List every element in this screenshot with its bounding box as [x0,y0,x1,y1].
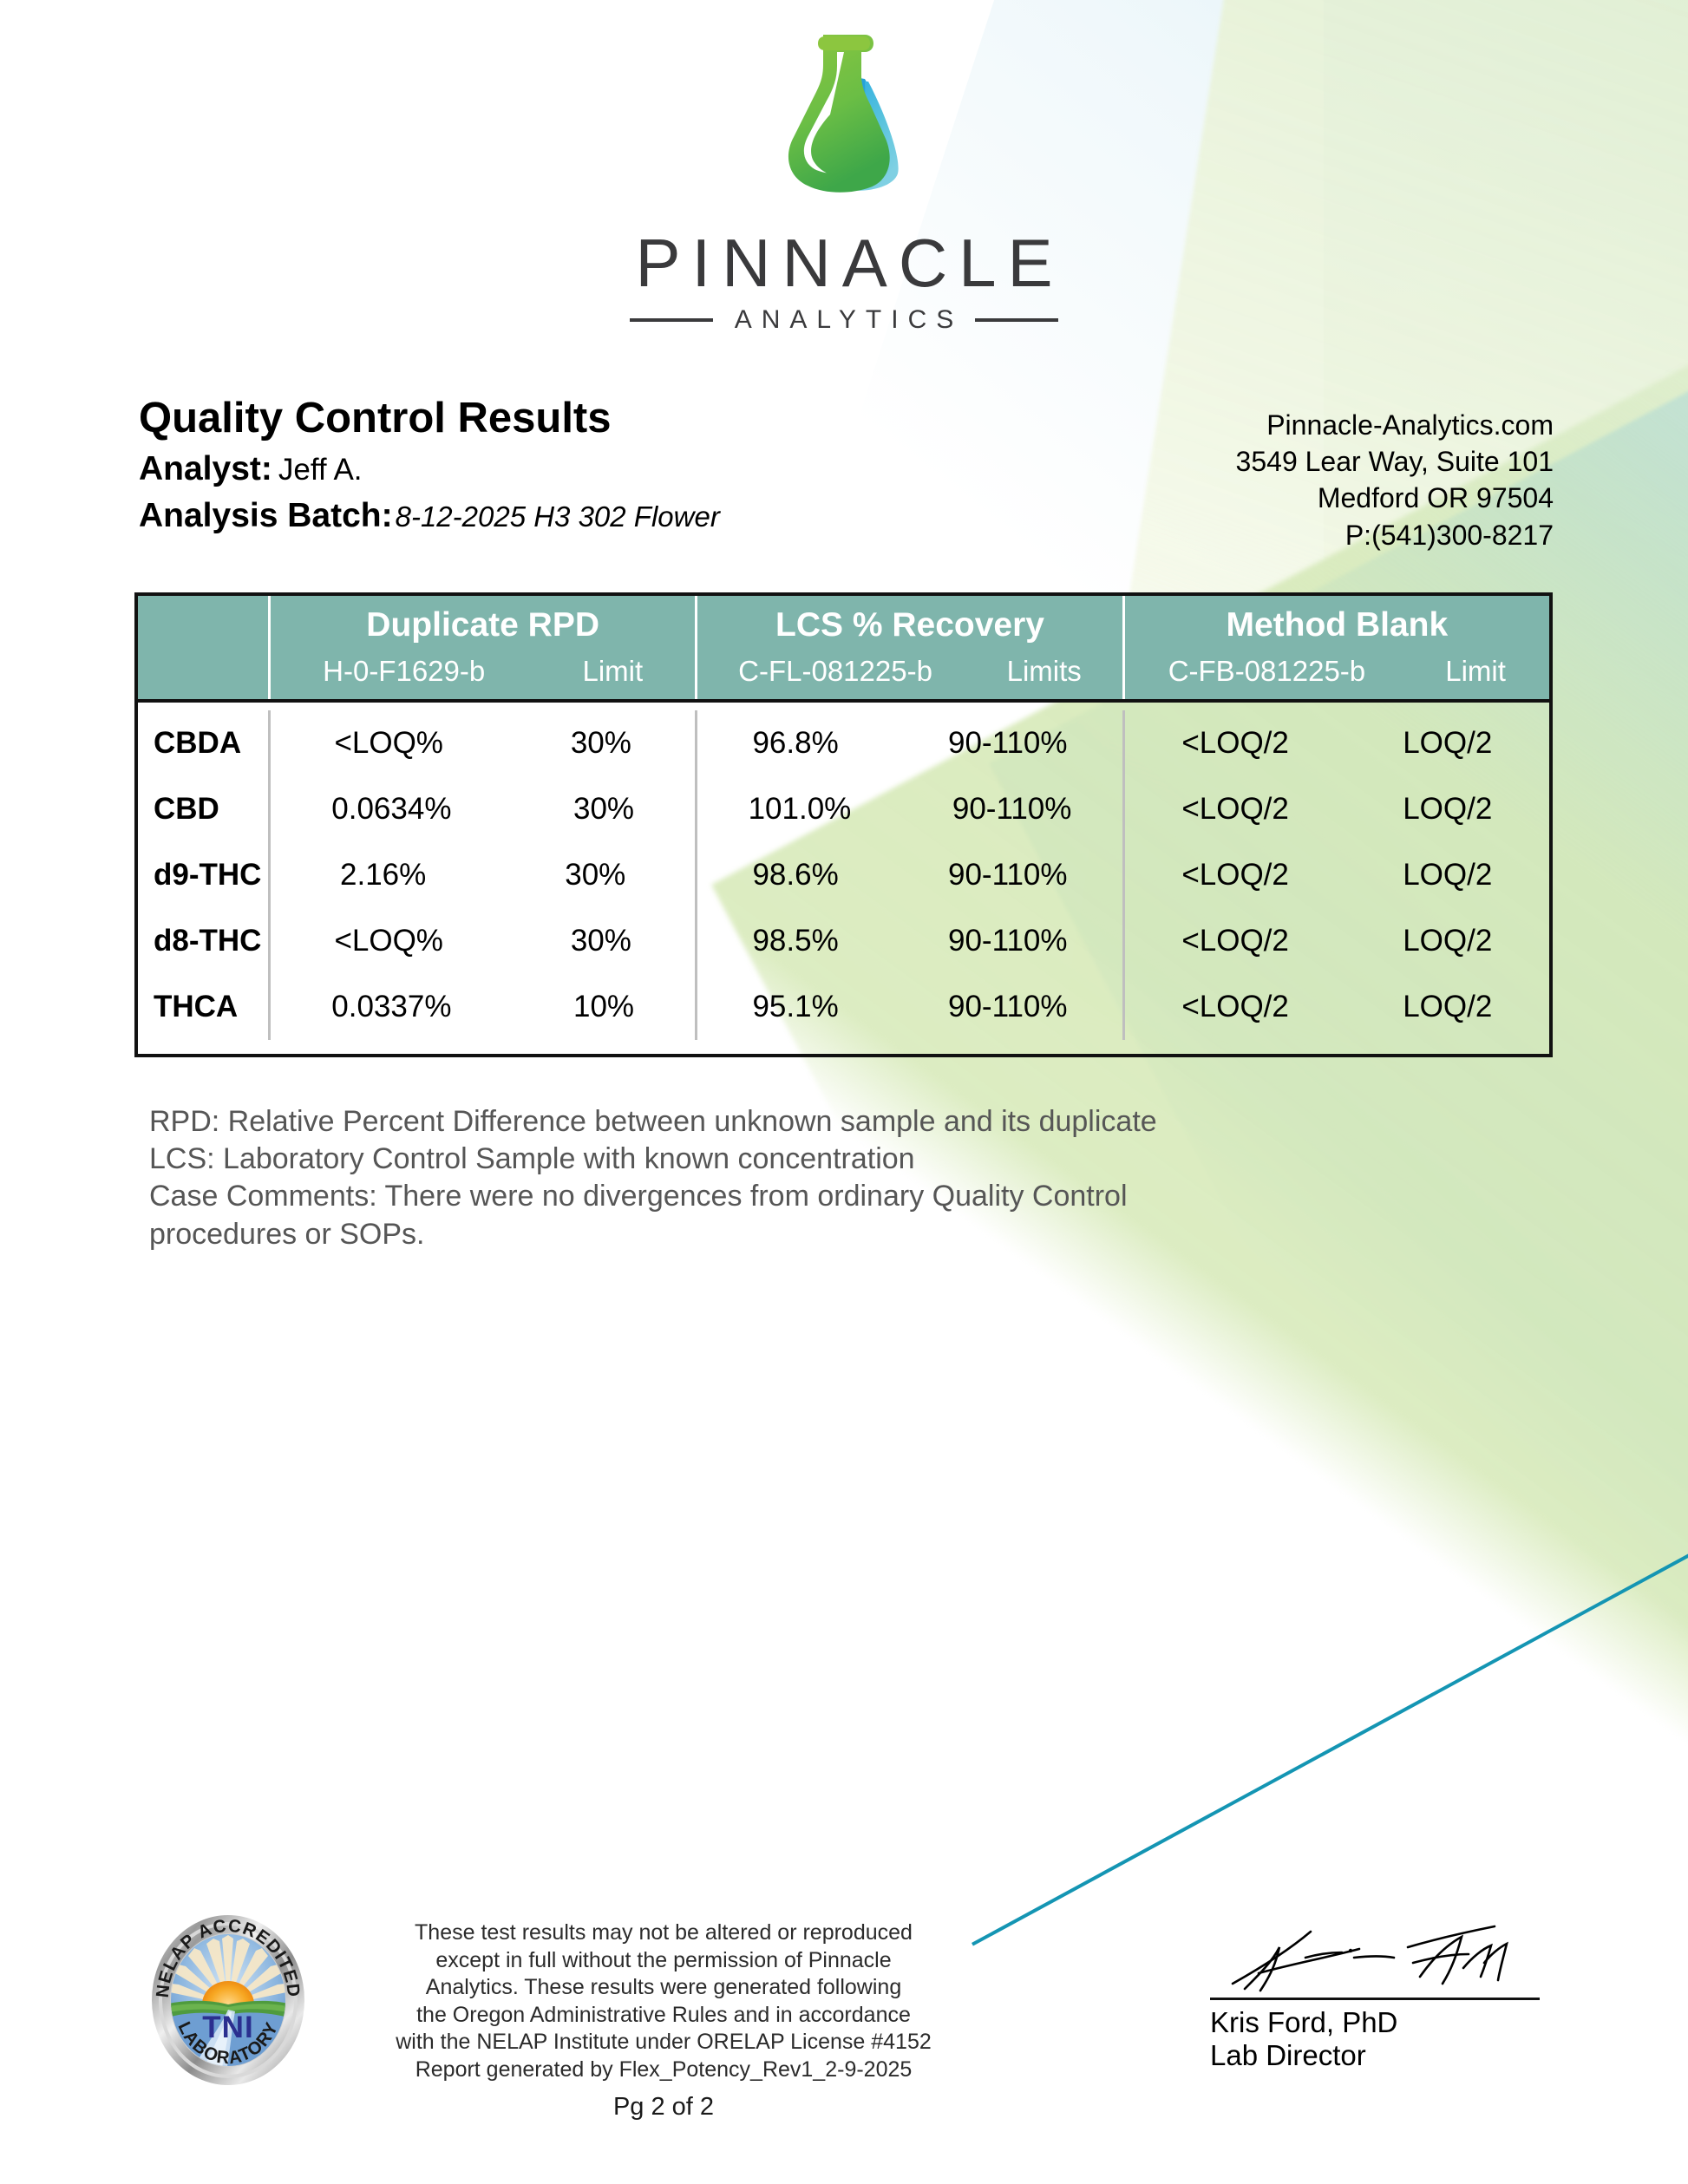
table-row: CBDA <LOQ% 30% 96.8% 90-110% <LOQ/2 LOQ/… [138,710,1549,776]
disclaimer-text: These test results may not be altered or… [351,1919,976,2083]
cell-value: <LOQ/2 [1181,924,1289,958]
cell-limit: 90-110% [948,858,1068,893]
cell-value: <LOQ% [334,726,442,761]
group-subheader: Limit [1445,656,1506,687]
cell-limit: 90-110% [948,924,1068,958]
cell-limit: LOQ/2 [1403,858,1492,893]
group-subheader: C-FB-081225-b [1168,656,1365,687]
row-analyte: d8-THC [138,924,268,958]
row-group-method-blank: <LOQ/2 LOQ/2 [1122,776,1549,842]
row-group-method-blank: <LOQ/2 LOQ/2 [1122,842,1549,908]
cell-value: <LOQ/2 [1181,726,1289,761]
note-case-comments: Case Comments: There were no divergences… [149,1178,1502,1215]
cell-value: 98.5% [752,924,838,958]
group-subheader: Limit [583,656,644,687]
row-group-lcs-recovery: 95.1% 90-110% [695,974,1122,1040]
cell-value: <LOQ/2 [1181,792,1289,827]
row-group-lcs-recovery: 98.5% 90-110% [695,908,1122,974]
row-group-method-blank: <LOQ/2 LOQ/2 [1122,710,1549,776]
row-analyte: THCA [138,990,268,1024]
cell-value: <LOQ/2 [1181,858,1289,893]
cell-limit: 90-110% [948,990,1068,1024]
cell-value: 95.1% [752,990,838,1024]
analyst-value: Jeff A. [278,453,363,487]
cell-value: 0.0634% [331,792,451,827]
lab-address-line1: 3549 Lear Way, Suite 101 [1236,443,1554,480]
table-row: THCA 0.0337% 10% 95.1% 90-110% <LOQ/2 LO… [138,974,1549,1040]
table-row: d9-THC 2.16% 30% 98.6% 90-110% <LOQ/2 LO… [138,842,1549,908]
disclaimer-line-1: These test results may not be altered or… [351,1919,976,1947]
group-title: LCS % Recovery [701,606,1118,645]
lab-website: Pinnacle-Analytics.com [1236,407,1554,443]
table-row: CBD 0.0634% 30% 101.0% 90-110% <LOQ/2 LO… [138,776,1549,842]
row-group-method-blank: <LOQ/2 LOQ/2 [1122,974,1549,1040]
disclaimer-line-4: the Oregon Administrative Rules and in a… [351,2002,976,2030]
cell-value: 96.8% [752,726,838,761]
analyst-label: Analyst: [139,450,272,488]
brand-logo: PINNACLE ANALYTICS [0,24,1688,335]
nelap-accredited-seal-icon: TNI NELAP ACCREDITED LABORATORY [146,1909,311,2096]
cell-value: 101.0% [749,792,852,827]
row-group-duplicate-rpd: 2.16% 30% [268,842,695,908]
table-row: d8-THC <LOQ% 30% 98.5% 90-110% <LOQ/2 LO… [138,908,1549,974]
disclaimer-line-6: Report generated by Flex_Potency_Rev1_2-… [351,2056,976,2084]
svg-text:TNI: TNI [202,2011,253,2044]
signer-name: Kris Ford, PhD [1210,2006,1574,2039]
disclaimer-line-2: except in full without the permission of… [351,1947,976,1975]
group-subheader-row: C-FB-081225-b Limit [1129,656,1546,687]
cell-limit: 30% [571,726,631,761]
row-analyte: CBD [138,792,268,827]
row-group-duplicate-rpd: <LOQ% 30% [268,710,695,776]
cell-value: <LOQ% [334,924,442,958]
header-left-column: Quality Control Results Analyst: Jeff A.… [139,395,720,544]
batch-value: 8-12-2025 H3 302 Flower [396,500,720,533]
lab-phone: P:(541)300-8217 [1236,517,1554,553]
brand-subtitle-row: ANALYTICS [630,305,1059,335]
note-lcs: LCS: Laboratory Control Sample with know… [149,1141,1502,1178]
row-group-lcs-recovery: 96.8% 90-110% [695,710,1122,776]
disclaimer-line-3: Analytics. These results were generated … [351,1974,976,2002]
table-header-group-lcs-recovery: LCS % Recovery C-FL-081225-b Limits [695,596,1122,699]
cell-value: <LOQ/2 [1181,990,1289,1024]
note-case-comments-cont: procedures or SOPs. [149,1216,1502,1253]
table-header-analyte [138,596,268,699]
brand-wordmark: PINNACLE [624,229,1063,297]
group-subheader-row: C-FL-081225-b Limits [701,656,1118,687]
signature-rule [1210,1998,1540,2000]
page-number: Pg 2 of 2 [351,2093,976,2122]
group-title: Duplicate RPD [274,606,691,645]
cell-limit: LOQ/2 [1403,990,1492,1024]
cell-limit: 30% [565,858,625,893]
disclaimer-line-5: with the NELAP Institute under ORELAP Li… [351,2029,976,2056]
note-rpd: RPD: Relative Percent Difference between… [149,1103,1502,1141]
row-group-duplicate-rpd: <LOQ% 30% [268,908,695,974]
brand-rule-left [630,318,713,322]
cell-value: 2.16% [340,858,426,893]
row-analyte: d9-THC [138,858,268,893]
cell-limit: 30% [571,924,631,958]
row-group-duplicate-rpd: 0.0337% 10% [268,974,695,1040]
row-group-lcs-recovery: 98.6% 90-110% [695,842,1122,908]
cell-value: 98.6% [752,858,838,893]
cell-limit: 30% [573,792,634,827]
table-header-group-duplicate-rpd: Duplicate RPD H-0-F1629-b Limit [268,596,695,699]
notes-block: RPD: Relative Percent Difference between… [149,1103,1502,1253]
brand-subtitle: ANALYTICS [725,305,964,335]
cell-limit: LOQ/2 [1403,792,1492,827]
lab-contact-block: Pinnacle-Analytics.com 3549 Lear Way, Su… [1236,395,1554,553]
batch-label: Analysis Batch: [139,497,393,535]
group-subheader: C-FL-081225-b [738,656,932,687]
batch-row: Analysis Batch: 8-12-2025 H3 302 Flower [139,497,720,535]
lab-address-line2: Medford OR 97504 [1236,480,1554,516]
background-diagonal-line [972,1405,1688,1946]
row-group-lcs-recovery: 101.0% 90-110% [695,776,1122,842]
group-subheader: Limits [1007,656,1082,687]
cell-limit: LOQ/2 [1403,924,1492,958]
cell-value: 0.0337% [331,990,451,1024]
table-header-group-method-blank: Method Blank C-FB-081225-b Limit [1122,596,1549,699]
brand-rule-right [975,318,1058,322]
report-header: Quality Control Results Analyst: Jeff A.… [139,395,1554,553]
page-title: Quality Control Results [139,396,720,441]
handwritten-signature-icon [1210,1919,1574,2003]
cell-limit: 90-110% [952,792,1072,827]
table-body: CBDA <LOQ% 30% 96.8% 90-110% <LOQ/2 LOQ/… [138,703,1549,1054]
group-subheader-row: H-0-F1629-b Limit [274,656,691,687]
signature-block: Kris Ford, PhD Lab Director [1210,1919,1574,2073]
report-footer: TNI NELAP ACCREDITED LABORATORY These te… [0,1904,1688,2164]
report-page: PINNACLE ANALYTICS Quality Control Resul… [0,0,1688,2184]
cell-limit: 90-110% [948,726,1068,761]
flask-leaf-icon [757,24,931,224]
cell-limit: LOQ/2 [1403,726,1492,761]
row-group-method-blank: <LOQ/2 LOQ/2 [1122,908,1549,974]
row-group-duplicate-rpd: 0.0634% 30% [268,776,695,842]
group-subheader: H-0-F1629-b [323,656,485,687]
qc-results-table: Duplicate RPD H-0-F1629-b Limit LCS % Re… [134,592,1553,1057]
signer-role: Lab Director [1210,2039,1574,2072]
cell-limit: 10% [573,990,634,1024]
group-title: Method Blank [1129,606,1546,645]
row-analyte: CBDA [138,726,268,761]
table-header-row: Duplicate RPD H-0-F1629-b Limit LCS % Re… [138,596,1549,703]
analyst-row: Analyst: Jeff A. [139,450,720,488]
